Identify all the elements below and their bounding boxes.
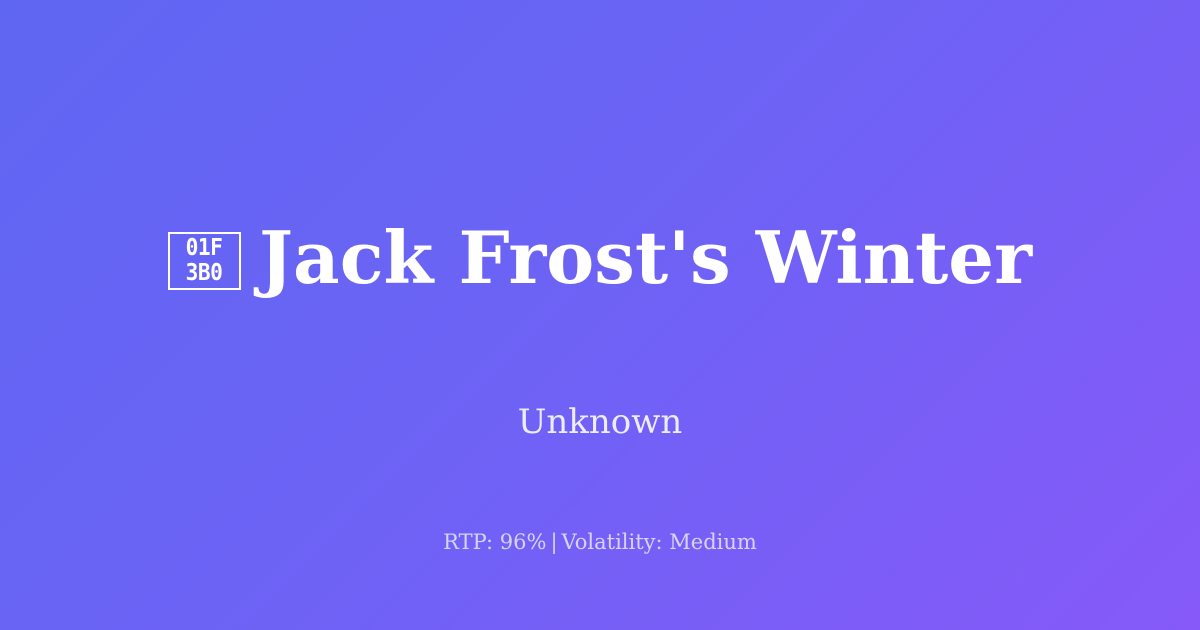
game-stats-line: RTP: 96%|Volatility: Medium — [0, 530, 1200, 554]
rtp-value: RTP: 96% — [443, 530, 546, 554]
meta-separator: | — [546, 530, 561, 554]
emoji-codepoint-bottom: 3B0 — [186, 261, 223, 286]
volatility-value: Volatility: Medium — [562, 530, 757, 554]
provider-subtitle: Unknown — [518, 402, 683, 443]
emoji-codepoint-top: 01F — [186, 236, 223, 261]
page-title: Jack Frost's Winter — [259, 221, 1032, 296]
slot-machine-emoji: 01F 3B0 — [168, 232, 241, 290]
title-row: 01F 3B0 Jack Frost's Winter — [0, 173, 1200, 344]
game-og-card: 01F 3B0 Jack Frost's Winter Unknown RTP:… — [0, 0, 1200, 630]
